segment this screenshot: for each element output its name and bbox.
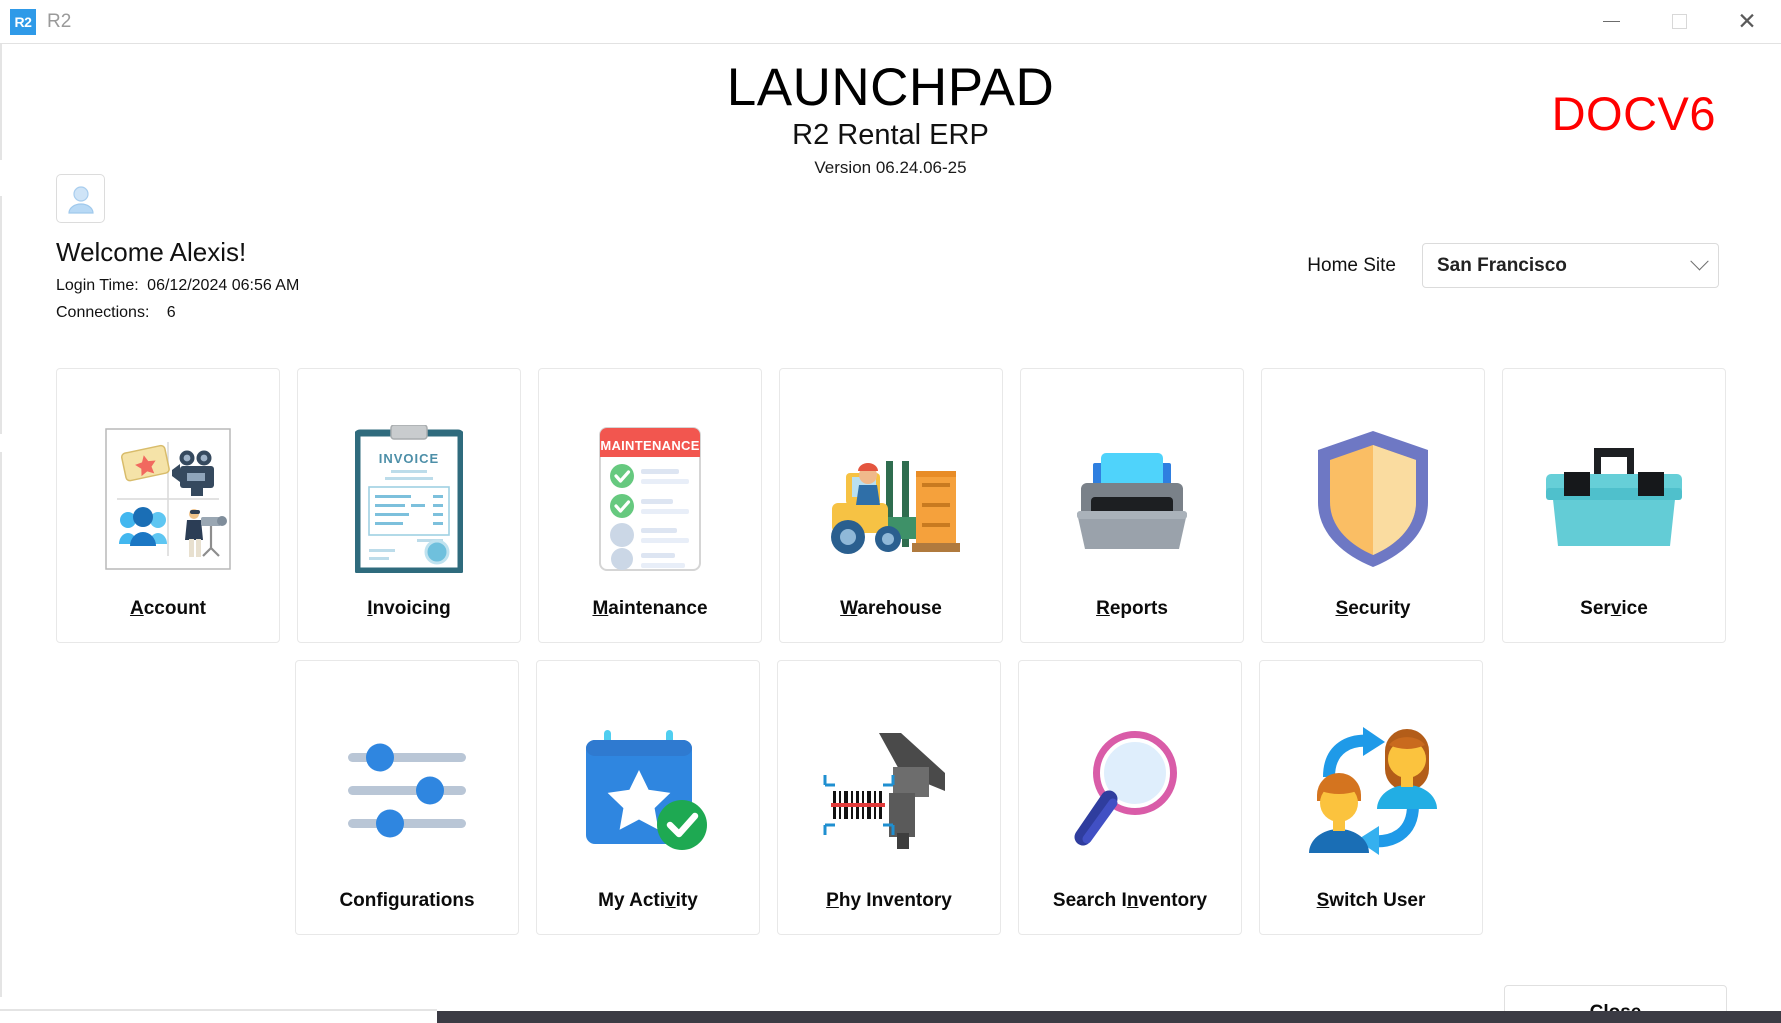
tile-label-account: Account [130, 598, 206, 620]
svg-text:INVOICE: INVOICE [379, 451, 439, 466]
tile-reports[interactable]: Reports [1020, 368, 1244, 643]
forklift-warehouse-icon [780, 399, 1002, 598]
window-title: R2 [47, 11, 71, 33]
tile-account[interactable]: Account [56, 368, 280, 643]
tile-label-service: Service [1580, 598, 1648, 620]
welcome-block: Welcome Alexis! Login Time: 06/12/2024 0… [56, 174, 299, 322]
login-time-row: Login Time: 06/12/2024 06:56 AM [56, 277, 299, 295]
invoice-clipboard-icon: INVOICE [298, 399, 520, 598]
home-site-label: Home Site [1307, 255, 1396, 277]
home-site-select[interactable]: San Francisco [1422, 243, 1719, 288]
tile-label-security: Security [1336, 598, 1411, 620]
magnifying-glass-icon [1019, 691, 1241, 890]
tile-switch-user[interactable]: Switch User [1259, 660, 1483, 935]
tile-label-reports: Reports [1096, 598, 1168, 620]
connections-row: Connections: 6 [56, 304, 299, 322]
title-bar: R2 R2 ✕ [0, 0, 1781, 44]
header: LAUNCHPAD R2 Rental ERP Version 06.24.06… [0, 58, 1781, 178]
tile-my-activity[interactable]: My Activity [536, 660, 760, 935]
tile-label-configurations: Configurations [339, 890, 474, 912]
tile-warehouse[interactable]: Warehouse [779, 368, 1003, 643]
page-subtitle: R2 Rental ERP [0, 119, 1781, 152]
tile-label-maintenance: Maintenance [592, 598, 707, 620]
shield-icon [1262, 399, 1484, 598]
barcode-scanner-icon [778, 691, 1000, 890]
switch-user-icon [1260, 691, 1482, 890]
login-time-label: Login Time: [56, 277, 139, 294]
sliders-settings-icon [296, 691, 518, 890]
tile-maintenance[interactable]: MAINTENANCE [538, 368, 762, 643]
tile-security[interactable]: Security [1261, 368, 1485, 643]
tile-label-phy-inventory: Phy Inventory [826, 890, 952, 912]
home-site-group: Home Site San Francisco [1307, 243, 1719, 288]
svg-text:MAINTENANCE: MAINTENANCE [600, 438, 699, 453]
tile-label-invoicing: Invoicing [367, 598, 450, 620]
login-time-value: 06/12/2024 06:56 AM [147, 277, 299, 294]
calendar-star-check-icon [537, 691, 759, 890]
connections-label: Connections: [56, 304, 149, 321]
avatar [56, 174, 105, 223]
minimize-icon [1603, 21, 1620, 23]
tile-label-search-inventory: Search Inventory [1053, 890, 1207, 912]
tile-label-warehouse: Warehouse [840, 598, 942, 620]
close-icon: ✕ [1737, 10, 1756, 33]
doc-badge: DOCV6 [1552, 86, 1716, 141]
welcome-message: Welcome Alexis! [56, 237, 299, 268]
tile-search-inventory[interactable]: Search Inventory [1018, 660, 1242, 935]
page-title: LAUNCHPAD [0, 58, 1781, 117]
app-logo-icon: R2 [10, 9, 36, 35]
taskbar-rail [0, 1009, 437, 1011]
close-window-button[interactable]: ✕ [1713, 0, 1781, 44]
maintenance-checklist-icon: MAINTENANCE [539, 399, 761, 598]
maximize-icon [1672, 14, 1687, 29]
tile-label-switch-user: Switch User [1317, 890, 1426, 912]
tile-label-my-activity: My Activity [598, 890, 698, 912]
window-edge-rail-mid [0, 196, 2, 434]
toolbox-icon [1503, 399, 1725, 598]
chevron-down-icon [1690, 252, 1708, 270]
minimize-button[interactable] [1577, 0, 1645, 44]
account-media-grid-icon [57, 399, 279, 598]
window-edge-rail-bottom [0, 452, 2, 997]
user-avatar-icon [64, 182, 98, 216]
tile-service[interactable]: Service [1502, 368, 1726, 643]
tile-invoicing[interactable]: INVOICE [297, 368, 521, 643]
connections-value: 6 [167, 304, 176, 321]
tile-phy-inventory[interactable]: Phy Inventory [777, 660, 1001, 935]
tile-row-2: Configurations My Activity [295, 660, 1726, 935]
launchpad-grid: Account INVOICE [56, 368, 1726, 952]
tile-configurations[interactable]: Configurations [295, 660, 519, 935]
maximize-button[interactable] [1645, 0, 1713, 44]
home-site-value: San Francisco [1437, 255, 1693, 277]
tile-row-1: Account INVOICE [56, 368, 1726, 643]
printer-icon [1021, 399, 1243, 598]
launchpad-window: R2 R2 ✕ LAUNCHPAD R2 Rental ERP Version … [0, 0, 1781, 1023]
taskbar-left-panel [0, 1011, 437, 1023]
